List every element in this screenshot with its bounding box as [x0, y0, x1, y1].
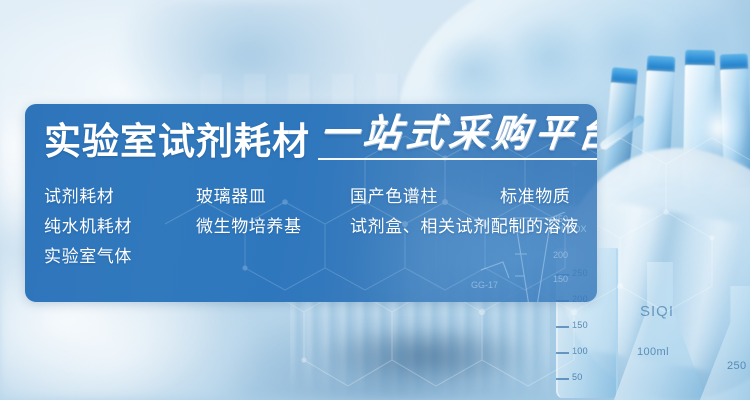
category-list: 试剂耗材 玻璃器皿 国产色谱柱 标准物质 纯水机耗材 微生物培养基 试剂盒、相关… — [44, 182, 597, 272]
category-row: 纯水机耗材 微生物培养基 试剂盒、相关试剂配制的溶液 — [44, 212, 597, 242]
category-item-reagent-consumables[interactable]: 试剂耗材 — [44, 182, 114, 212]
svg-text:GG-17: GG-17 — [471, 280, 498, 290]
category-item-water-purifier-consumables[interactable]: 纯水机耗材 — [44, 212, 132, 242]
category-row: 实验室气体 — [44, 242, 597, 272]
category-row: 试剂耗材 玻璃器皿 国产色谱柱 标准物质 — [44, 182, 597, 212]
svg-text:150: 150 — [553, 274, 568, 284]
category-item-reagent-kits-and-solutions[interactable]: 试剂盒、相关试剂配制的溶液 — [350, 212, 579, 242]
category-item-microbial-culture-media[interactable]: 微生物培养基 — [196, 212, 302, 242]
laboratory-reagent-banner: 250 200 150 100 50 SIQI 100ml 250 — [0, 0, 750, 400]
promo-panel: 250 APPROX 200 150 GG-17 实验室试剂耗材 一站式采购平台… — [25, 104, 597, 302]
headline-brush-wrap: 一站式采购平台 — [320, 114, 597, 160]
category-item-domestic-chromatography-column[interactable]: 国产色谱柱 — [350, 182, 438, 212]
headline-brush-text: 一站式采购平台 — [318, 114, 597, 152]
headline-underline — [318, 158, 597, 160]
category-item-glassware[interactable]: 玻璃器皿 — [196, 182, 266, 212]
headline-main-text: 实验室试剂耗材 — [44, 123, 310, 160]
category-item-laboratory-gases[interactable]: 实验室气体 — [44, 242, 132, 272]
headline: 实验室试剂耗材 一站式采购平台 — [44, 114, 597, 160]
category-item-reference-material[interactable]: 标准物质 — [500, 182, 570, 212]
